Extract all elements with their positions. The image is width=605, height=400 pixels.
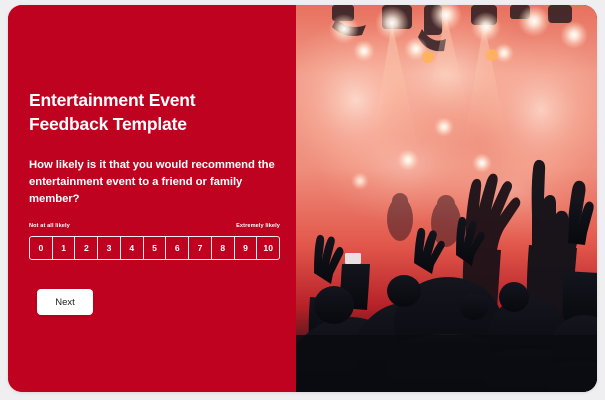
feedback-card: Entertainment Event Feedback Template Ho…	[8, 5, 597, 392]
scale-option-0[interactable]: 0	[30, 237, 53, 259]
scale-legend: Not at all likely Extremely likely	[29, 223, 280, 229]
scale-option-3[interactable]: 3	[98, 237, 121, 259]
scale-high-label: Extremely likely	[236, 223, 280, 229]
scale-option-5[interactable]: 5	[144, 237, 167, 259]
concert-photo	[296, 5, 597, 392]
question-text: How likely is it that you would recommen…	[29, 157, 275, 208]
scale-option-10[interactable]: 10	[257, 237, 279, 259]
scale-option-2[interactable]: 2	[75, 237, 98, 259]
page-title: Entertainment Event Feedback Template	[29, 88, 279, 136]
scale-option-6[interactable]: 6	[166, 237, 189, 259]
scale-option-7[interactable]: 7	[189, 237, 212, 259]
scale-option-9[interactable]: 9	[235, 237, 258, 259]
scale-option-1[interactable]: 1	[53, 237, 76, 259]
concert-photo-illustration	[296, 5, 597, 392]
scale-options-row: 0 1 2 3 4 5 6 7 8 9 10	[29, 236, 280, 260]
nps-scale: Not at all likely Extremely likely 0 1 2…	[29, 223, 280, 260]
scale-option-8[interactable]: 8	[212, 237, 235, 259]
next-button[interactable]: Next	[37, 289, 93, 315]
scale-low-label: Not at all likely	[29, 223, 70, 229]
scale-option-4[interactable]: 4	[121, 237, 144, 259]
form-panel: Entertainment Event Feedback Template Ho…	[8, 5, 296, 392]
